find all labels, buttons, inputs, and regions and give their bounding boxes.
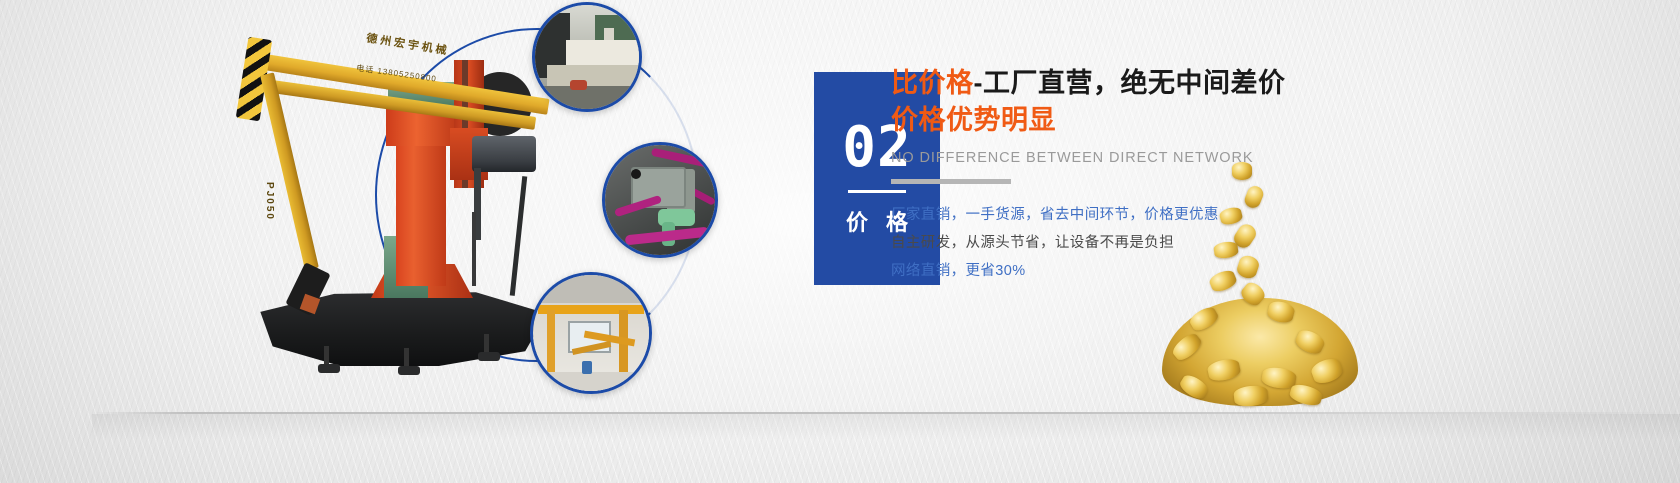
gold-coins-decor (1150, 160, 1360, 410)
floor-shadow (92, 414, 1680, 440)
promo-banner: 德州宏宇机械 电话 13805250800 PJ050 (0, 0, 1680, 483)
gold-coin (1213, 240, 1239, 259)
crane-boom-brand-label: 德州宏宇机械 (365, 30, 450, 59)
photo-pneumatic-valve-content (605, 145, 715, 255)
crane-foot-stem (324, 346, 329, 366)
photo-workshop-gantry-content (533, 275, 649, 391)
gold-coin (1235, 253, 1261, 280)
photo-workshop-gantry (530, 272, 652, 394)
crane-foot-stem (404, 348, 409, 368)
gold-coin (1232, 162, 1252, 180)
crane-foot (398, 366, 420, 375)
headline-line-2: 价格优势明显 (891, 103, 1531, 138)
copy-divider (891, 179, 1011, 184)
crane-foot (318, 364, 340, 373)
headline-accent: 比价格 (891, 68, 974, 98)
crane-diagonal-arm (260, 72, 319, 270)
headline-line-1: 比价格-工厂直营，绝无中间差价 (891, 66, 1531, 101)
photo-machine-shop (532, 2, 642, 112)
crane-pole-secondary (472, 212, 476, 286)
photo-machine-shop-content (535, 5, 639, 109)
gold-coin (1242, 184, 1265, 210)
photo-pneumatic-valve (602, 142, 718, 258)
crane-foot-stem (484, 334, 489, 354)
gold-coin (1208, 268, 1239, 294)
jib-crane-illustration: 德州宏宇机械 电话 13805250800 PJ050 (236, 16, 566, 376)
crane-foot (478, 352, 500, 361)
crane-motor (472, 136, 536, 172)
crane-pole (510, 176, 528, 296)
gold-coin (1218, 206, 1243, 227)
crane-model-label: PJ050 (264, 182, 275, 221)
artwork-area: 德州宏宇机械 电话 13805250800 PJ050 (190, 0, 750, 420)
crane-column (396, 136, 446, 286)
headline-rest: -工厂直营，绝无中间差价 (974, 68, 1286, 98)
